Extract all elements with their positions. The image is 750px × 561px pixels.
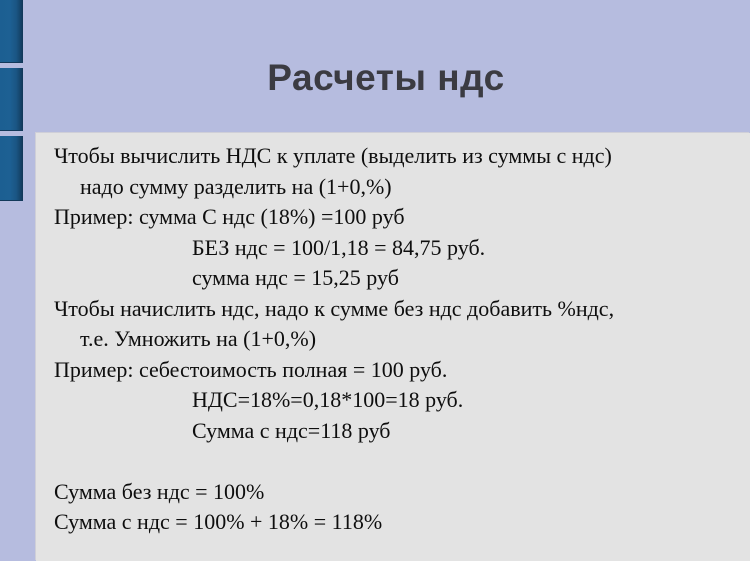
body-line: т.е. Умножить на (1+0,%) [54, 324, 750, 355]
body-line: НДС=18%=0,18*100=18 руб. [54, 385, 750, 416]
content-panel: Чтобы вычислить НДС к уплате (выделить и… [36, 133, 750, 561]
page-title: Расчеты ндс [36, 56, 736, 100]
body-line: сумма ндс = 15,25 руб [54, 263, 750, 294]
blue-accent-bar-top [0, 0, 23, 63]
blue-accent-bar-middle [0, 68, 23, 131]
blue-accent-bar-bottom [0, 136, 23, 201]
body-line: Пример: себестоимость полная = 100 руб. [54, 355, 750, 386]
body-line: Чтобы начислить ндс, надо к сумме без нд… [54, 294, 750, 325]
body-line: БЕЗ ндс = 100/1,18 = 84,75 руб. [54, 233, 750, 264]
body-line: Чтобы вычислить НДС к уплате (выделить и… [54, 141, 750, 172]
body-text-block: Чтобы вычислить НДС к уплате (выделить и… [54, 141, 750, 538]
body-spacer-line [54, 446, 750, 477]
body-line: Сумма с ндс=118 руб [54, 416, 750, 447]
body-line: Пример: сумма С ндс (18%) =100 руб [54, 202, 750, 233]
slide-header: Расчеты ндс [0, 0, 750, 133]
body-line: надо сумму разделить на (1+0,%) [54, 172, 750, 203]
slide-canvas: Расчеты ндс Чтобы вычислить НДС к уплате… [0, 0, 750, 561]
body-line: Сумма без ндс = 100% [54, 477, 750, 508]
body-line: Сумма с ндс = 100% + 18% = 118% [54, 507, 750, 538]
